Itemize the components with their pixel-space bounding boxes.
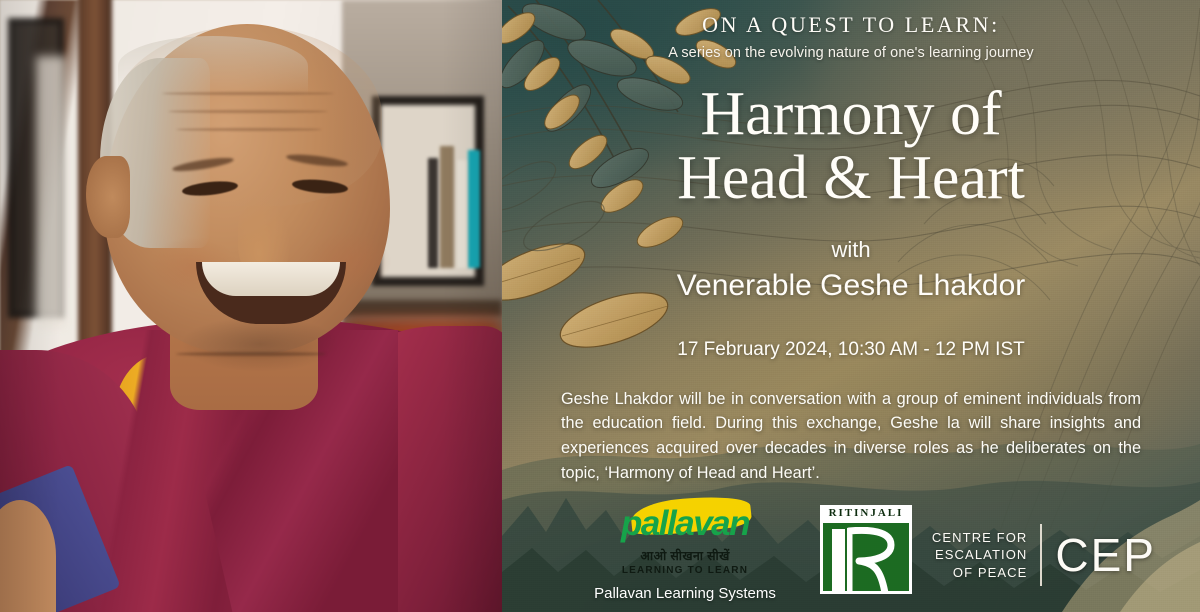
ear [86,156,130,238]
forehead-line-1 [162,92,334,95]
cep-abbreviation: CEP [1055,532,1156,578]
logo-pallavan: pallavan आओ सीखना सीखें LEARNING TO LEAR… [562,496,808,602]
cep-name-line-1: CENTRE FOR [932,529,1028,546]
pallavan-caption: Pallavan Learning Systems [594,585,776,602]
series-title: ON A QUEST TO LEARN: [702,12,1000,38]
event-datetime: 17 February 2024, 10:30 AM - 12 PM IST [677,339,1024,361]
pallavan-wordmark: pallavan [605,506,765,541]
title-line-2: Head & Heart [677,147,1025,211]
teeth [202,262,340,296]
logo-cep: CENTRE FOR ESCALATION OF PEACE CEP [932,524,1156,586]
forehead-line-3 [176,128,322,131]
pallavan-english-tagline: LEARNING TO LEARN [622,565,748,576]
poster-art-panel: ON A QUEST TO LEARN: A series on the evo… [502,0,1200,612]
cep-full-name: CENTRE FOR ESCALATION OF PEACE [932,529,1028,580]
forehead-line-2 [168,110,328,113]
cep-divider [1040,524,1042,586]
page-title: Harmony of Head & Heart [677,83,1025,211]
title-line-1: Harmony of [700,80,1001,148]
logo-bar: pallavan आओ सीखना सीखें LEARNING TO LEAR… [502,502,1200,608]
cep-name-line-3: OF PEACE [932,564,1028,581]
series-subtitle: A series on the evolving nature of one's… [668,45,1034,61]
event-poster: ON A QUEST TO LEARN: A series on the evo… [0,0,1200,612]
speaker-portrait-photo [0,0,502,612]
ritinjali-stem [832,529,845,591]
event-description: Geshe Lhakdor will be in conversation wi… [561,387,1141,486]
chin-stubble [180,316,340,372]
ritinjali-logomark [820,520,912,594]
chin-crease [176,352,326,356]
ritinjali-wordmark: RITINJALI [820,505,912,520]
ritinjali-green-field [823,523,909,591]
monk-figure [0,0,502,612]
logo-ritinjali: RITINJALI [820,505,912,594]
speaker-name: Venerable Geshe Lhakdor [677,269,1026,303]
with-label: with [831,237,870,263]
pallavan-logomark: pallavan [605,496,765,550]
cep-name-line-2: ESCALATION [932,546,1028,563]
ritinjali-monogram-icon [847,527,899,591]
